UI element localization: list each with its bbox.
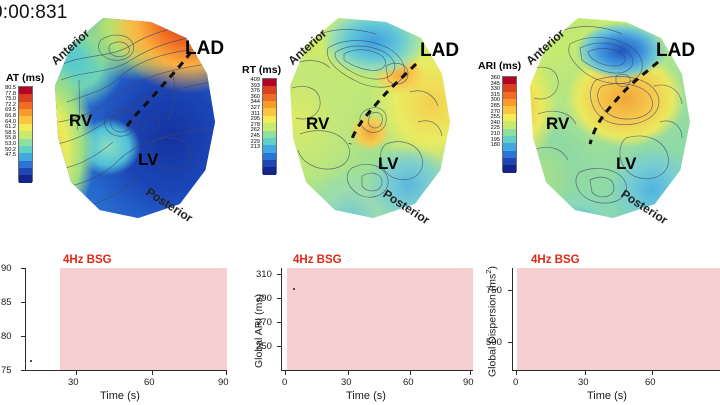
x-tick — [652, 371, 653, 375]
y-label-tail: ) — [487, 266, 499, 270]
y-label-exponent: 2 — [484, 270, 493, 274]
at-label-lad: LAD — [185, 38, 224, 60]
x-tick-label: 30 — [341, 377, 352, 388]
at-colorbar-gradient — [18, 86, 33, 182]
y-tick — [277, 274, 281, 275]
y-tick-label: 310 — [256, 269, 272, 280]
rt-colorbar-ticks: 409 393 376 360 344 327 311 295 278 262 … — [238, 78, 260, 151]
y-tick — [21, 302, 25, 303]
plot-left-bsg-band — [60, 268, 227, 370]
plot-disp-bsg-band — [517, 268, 720, 370]
ari-map-surface: LAD RV LV Anterior Posterior — [530, 18, 690, 218]
activation-recovery-interval-map-panel: ARI (ms) 360 345 330 315 300 285 270 255… — [478, 0, 718, 240]
y-tick-label: 80 — [1, 331, 12, 342]
plot-ari-x-label: Time (s) — [346, 390, 386, 402]
x-tick-label: 60 — [645, 377, 656, 388]
x-tick — [76, 371, 77, 375]
ari-colorbar-ticks: 360 345 330 315 300 285 270 255 240 225 … — [478, 76, 500, 149]
plot-left-x-axis — [25, 370, 227, 371]
rt-colorbar-title: RT (ms) — [242, 64, 281, 76]
activation-time-map-panel: AT (ms) 80.5 77.8 75.0 72.2 69.5 66.8 64… — [0, 0, 240, 240]
data-point — [293, 288, 295, 290]
x-tick — [516, 371, 517, 375]
plot-left-x-label: Time (s) — [100, 390, 140, 402]
cb-tick: 213 — [238, 145, 260, 151]
cb-tick: 47.5 — [0, 153, 16, 159]
repolarisation-time-map-panel: RT (ms) 409 393 376 360 344 327 311 295 … — [240, 0, 480, 240]
at-label-rv: RV — [69, 111, 92, 131]
y-tick — [21, 268, 25, 269]
y-tick — [21, 336, 25, 337]
x-tick — [410, 371, 411, 375]
plot-ari-x-axis — [281, 370, 473, 371]
x-tick-label: 0 — [282, 377, 287, 388]
x-tick-label: 30 — [68, 377, 79, 388]
x-tick — [152, 371, 153, 375]
at-colorbar-title: AT (ms) — [6, 72, 44, 84]
y-tick — [21, 370, 25, 371]
at-map-surface: LAD RV LV Anterior Posterior — [55, 18, 215, 218]
y-tick — [277, 322, 281, 323]
plot-disp-y-label: Global Dispersion (ms2) — [484, 266, 499, 377]
ari-colorbar-title: ARI (ms) — [478, 60, 521, 72]
cb-tick: 180 — [478, 143, 500, 149]
x-tick — [348, 371, 349, 375]
y-tick-label: 90 — [1, 263, 12, 274]
x-tick — [226, 371, 227, 375]
ari-colorbar-gradient — [502, 76, 517, 172]
rt-colorbar-gradient — [262, 78, 277, 174]
plot-disp-y-axis — [512, 268, 513, 371]
rt-map-surface: LAD RV LV Anterior Posterior — [290, 18, 450, 218]
rt-label-rv: RV — [306, 114, 329, 134]
plot-ari-y-axis — [281, 268, 282, 371]
plot-disp-x-axis — [512, 370, 720, 371]
plot-global-dispersion: 4Hz BSG 750 500 0 30 60 Time (s) Global … — [470, 255, 720, 405]
x-tick-label: 60 — [144, 377, 155, 388]
y-tick — [277, 346, 281, 347]
y-tick — [277, 298, 281, 299]
x-tick-label: 0 — [513, 377, 518, 388]
y-tick-label: 75 — [1, 365, 12, 376]
x-tick — [285, 371, 286, 375]
ari-label-lv: LV — [616, 154, 636, 174]
plot-ari-bsg-title: 4Hz BSG — [293, 254, 342, 266]
x-tick-label: 30 — [578, 377, 589, 388]
y-tick — [508, 290, 512, 291]
plot-ari-y-label: Global ARI (ms) — [253, 294, 265, 368]
data-point — [30, 360, 32, 362]
y-label-main: Global Dispersion (ms — [487, 274, 499, 377]
plot-disp-x-label: Time (s) — [587, 390, 627, 402]
rt-label-lad: LAD — [420, 40, 459, 62]
plot-left-bsg-title: 4Hz BSG — [63, 254, 112, 266]
at-colorbar-ticks: 80.5 77.8 75.0 72.2 69.5 66.8 64.0 61.2 … — [0, 86, 16, 159]
ari-label-rv: RV — [546, 114, 569, 134]
y-tick-label: 85 — [1, 297, 12, 308]
x-tick-label: 60 — [403, 377, 414, 388]
plot-left-y-axis — [25, 268, 26, 371]
plot-left: 4Hz BSG 90 85 80 75 30 60 90 Time (s) — [0, 255, 240, 405]
plot-disp-bsg-title: 4Hz BSG — [531, 254, 580, 266]
x-tick — [585, 371, 586, 375]
plot-ari-bsg-band — [287, 268, 473, 370]
y-tick — [508, 342, 512, 343]
rt-label-lv: LV — [378, 154, 398, 174]
x-tick-label: 90 — [218, 377, 229, 388]
ari-label-lad: LAD — [656, 40, 695, 62]
plot-global-ari: 4Hz BSG 310 290 270 250 0 30 60 90 Time … — [240, 255, 470, 405]
at-label-lv: LV — [138, 150, 158, 170]
